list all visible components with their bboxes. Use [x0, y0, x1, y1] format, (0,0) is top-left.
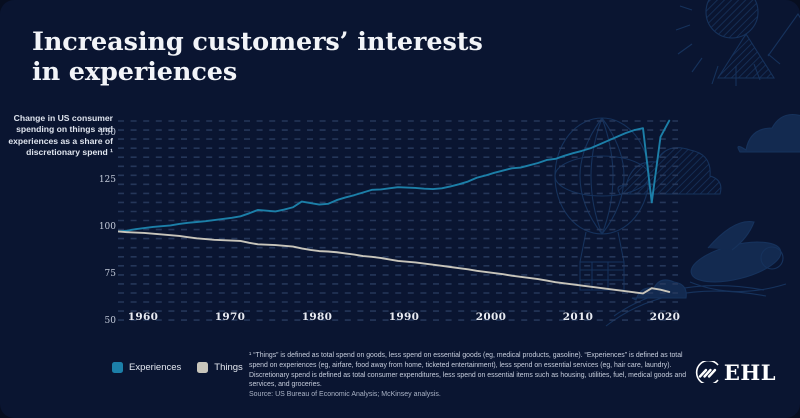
legend-item-things[interactable]: Things: [197, 362, 243, 373]
cloud-icon: [738, 115, 800, 153]
x-tick-1980: 1980: [302, 311, 332, 323]
y-axis-labels: 150 125 100 75 50: [86, 0, 116, 418]
x-axis-labels: 1960 1970 1980 1990 2000 2010 2020: [118, 311, 686, 329]
x-tick-1960: 1960: [128, 311, 158, 323]
chart-series: [118, 121, 669, 294]
x-tick-2020: 2020: [650, 311, 680, 323]
legend-swatch-experiences: [112, 362, 123, 373]
legend-label-experiences: Experiences: [129, 362, 181, 373]
ehl-swoosh-icon: [694, 361, 720, 383]
infographic-card: Increasing customers’ interests in exper…: [0, 0, 800, 418]
legend-label-things: Things: [214, 362, 243, 373]
x-tick-1970: 1970: [215, 311, 245, 323]
mountain-icon: [718, 34, 774, 78]
x-tick-2010: 2010: [563, 311, 593, 323]
x-tick-2000: 2000: [476, 311, 506, 323]
ehl-logo[interactable]: EHL: [694, 361, 776, 383]
legend-swatch-things: [197, 362, 208, 373]
legend-item-experiences[interactable]: Experiences: [112, 362, 181, 373]
chart-gridlines: [118, 121, 678, 320]
x-tick-1990: 1990: [389, 311, 419, 323]
line-chart-svg: [118, 118, 678, 326]
ehl-logo-text: EHL: [724, 362, 776, 383]
chart-legend: Experiences Things: [112, 362, 243, 373]
y-tick-100: 100: [90, 222, 116, 232]
footnote-text: ¹ “Things” is defined as total spend on …: [249, 351, 689, 390]
source-text: Source: US Bureau of Economic Analysis; …: [249, 391, 689, 398]
y-tick-50: 50: [90, 316, 116, 326]
chart-plot-area: [118, 118, 678, 326]
sun-icon: [676, 0, 780, 86]
y-tick-125: 125: [90, 175, 116, 185]
mountain-back-icon: [768, 14, 800, 70]
y-tick-75: 75: [90, 269, 116, 279]
airplane-icon: [687, 222, 786, 292]
y-tick-150: 150: [90, 128, 116, 138]
